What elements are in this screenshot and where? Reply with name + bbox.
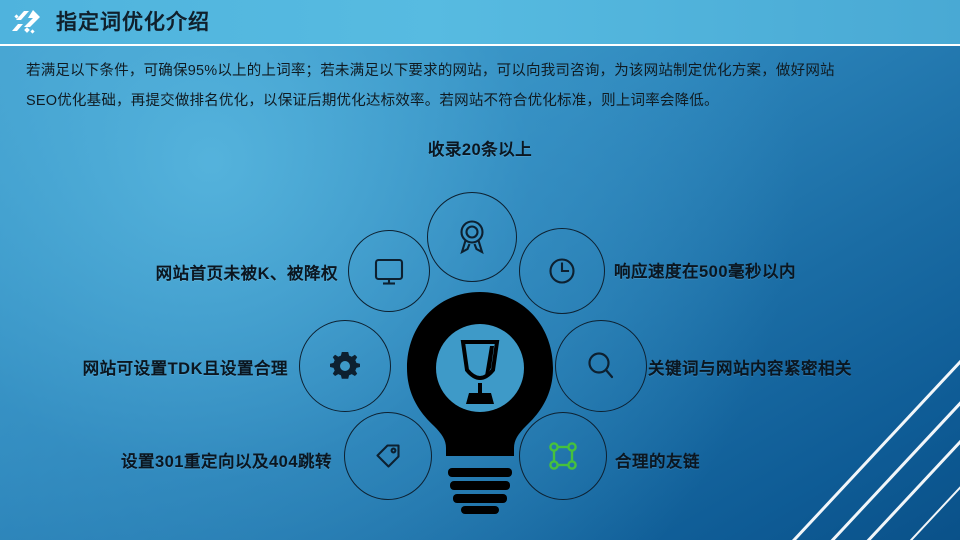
intro-line-2: SEO优化基础，再提交做排名优化，以保证后期优化达标效率。若网站不符合优化标准，… [26,86,938,116]
node-search[interactable] [555,320,647,412]
gear-icon [327,348,363,384]
label-monitor: 网站首页未被K、被降权 [0,260,338,284]
node-tag[interactable] [344,412,432,500]
label-tag: 设置301重定向以及404跳转 [0,448,332,472]
clock-icon [545,254,579,288]
intro-paragraph: 若满足以下条件，可确保95%以上的上词率；若未满足以下要求的网站，可以向我司咨询… [26,56,938,117]
node-network[interactable] [519,412,607,500]
page-title: 指定词优化介绍 [56,12,210,33]
tag-icon [370,438,406,474]
network-nodes-icon [544,437,582,475]
label-search: 关键词与网站内容紧密相关 [648,355,960,379]
label-network: 合理的友链 [615,448,915,472]
slide-header: 指定词优化介绍 [0,0,960,46]
dots-arrow-logo-icon [12,7,46,37]
node-gear[interactable] [299,320,391,412]
search-icon [583,348,619,384]
label-clock: 响应速度在500毫秒以内 [614,258,954,282]
award-ribbon-icon [452,217,492,257]
seo-requirements-diagram: 收录20条以上 [0,130,960,540]
slide-canvas: 指定词优化介绍 若满足以下条件，可确保95%以上的上词率；若未满足以下要求的网站… [0,0,960,540]
monitor-icon [371,253,407,289]
node-award[interactable] [427,192,517,282]
label-gear: 网站可设置TDK且设置合理 [0,355,288,379]
label-award: 收录20条以上 [0,136,960,160]
intro-line-1: 若满足以下条件，可确保95%以上的上词率；若未满足以下要求的网站，可以向我司咨询… [26,56,938,86]
node-monitor[interactable] [348,230,430,312]
node-clock[interactable] [519,228,605,314]
